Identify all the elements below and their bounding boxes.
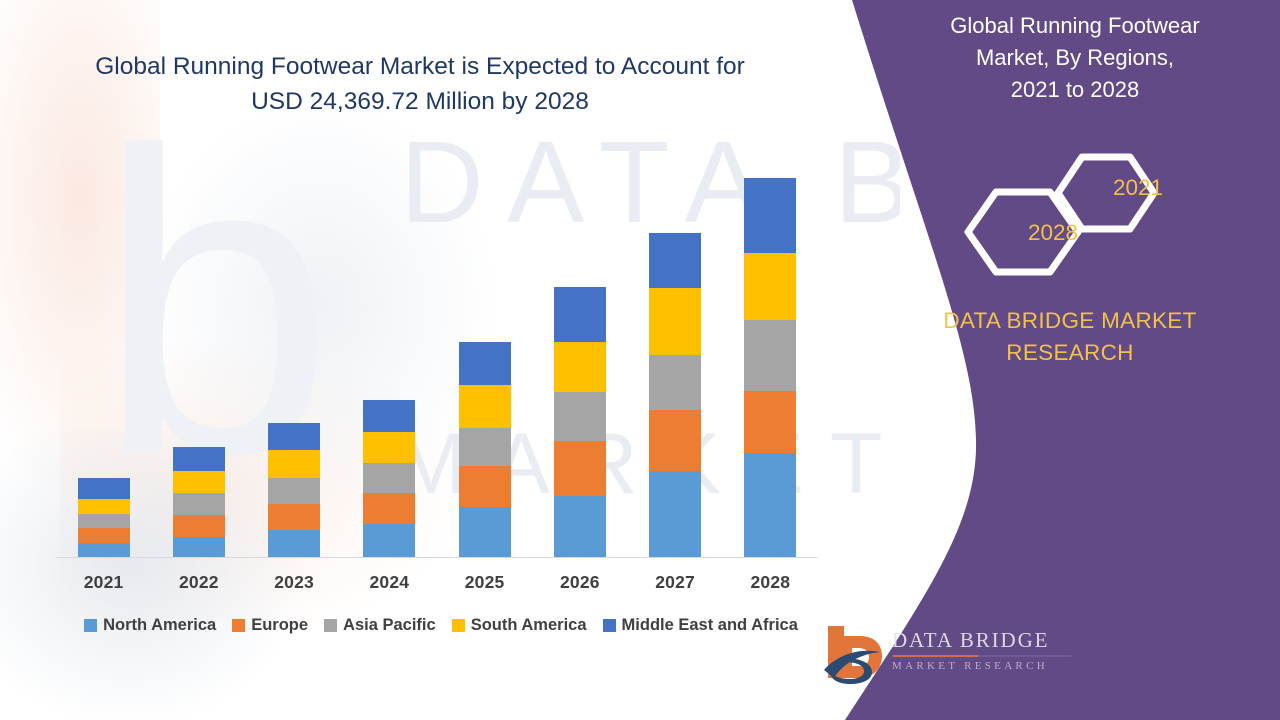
x-axis-label: 2025	[437, 572, 532, 593]
x-axis-label: 2022	[151, 572, 246, 593]
bar-segment[interactable]	[554, 392, 606, 441]
bar-segment[interactable]	[554, 441, 606, 496]
bar-segment[interactable]	[78, 528, 130, 543]
bar-segment[interactable]	[744, 391, 796, 453]
bar-segment[interactable]	[649, 355, 701, 411]
bar-segment[interactable]	[78, 478, 130, 499]
x-axis-label: 2023	[247, 572, 342, 593]
chart-title: Global Running Footwear Market is Expect…	[60, 50, 780, 120]
stacked-bar[interactable]	[78, 478, 130, 557]
company-logo: DATA BRIDGE MARKET RESEARCH	[820, 620, 1090, 705]
bar-segment[interactable]	[78, 499, 130, 514]
right-info-panel: Global Running Footwear Market, By Regio…	[810, 0, 1280, 720]
bar-slot	[532, 150, 627, 557]
bar-segment[interactable]	[363, 493, 415, 525]
legend-label: North America	[103, 616, 216, 635]
bar-segment[interactable]	[744, 320, 796, 391]
bar-segment[interactable]	[173, 493, 225, 515]
bar-slot	[342, 150, 437, 557]
x-axis-label: 2026	[532, 572, 627, 593]
stacked-bar[interactable]	[744, 178, 796, 557]
legend-swatch	[232, 619, 245, 632]
bar-segment[interactable]	[459, 385, 511, 428]
bar-slot	[437, 150, 532, 557]
x-axis-label: 2021	[56, 572, 151, 593]
stacked-bar[interactable]	[459, 342, 511, 557]
bar-segment[interactable]	[459, 507, 511, 557]
logo-wordmark: DATA BRIDGE MARKET RESEARCH	[892, 628, 1071, 672]
logo-name-bottom: MARKET RESEARCH	[892, 660, 1071, 672]
bar-segment[interactable]	[173, 515, 225, 536]
panel-brand-name: DATA BRIDGE MARKET RESEARCH	[900, 305, 1240, 369]
bar-segment[interactable]	[363, 400, 415, 432]
bar-slot	[56, 150, 151, 557]
bar-segment[interactable]	[268, 423, 320, 450]
bar-segment[interactable]	[744, 253, 796, 320]
panel-brand-line-2: RESEARCH	[900, 337, 1240, 369]
legend-label: Europe	[251, 616, 308, 635]
stacked-bar[interactable]	[173, 447, 225, 557]
panel-title-line-1: Global Running Footwear	[890, 10, 1260, 42]
bar-segment[interactable]	[744, 453, 796, 557]
bar-segment[interactable]	[649, 233, 701, 288]
stacked-bar[interactable]	[649, 233, 701, 557]
chart-title-line-2: USD 24,369.72 Million by 2028	[60, 85, 780, 120]
x-axis-label: 2027	[628, 572, 723, 593]
legend-item[interactable]: Asia Pacific	[324, 616, 436, 635]
legend-label: Asia Pacific	[343, 616, 436, 635]
chart-plot-area	[56, 150, 818, 558]
legend-swatch	[452, 619, 465, 632]
legend-swatch	[603, 619, 616, 632]
bar-segment[interactable]	[173, 447, 225, 470]
legend-swatch	[84, 619, 97, 632]
bar-segment[interactable]	[363, 524, 415, 557]
logo-divider	[893, 655, 1071, 657]
bar-segment[interactable]	[459, 466, 511, 507]
bar-segment[interactable]	[649, 288, 701, 354]
bar-segment[interactable]	[173, 471, 225, 493]
legend-swatch	[324, 619, 337, 632]
x-axis-label: 2028	[723, 572, 818, 593]
panel-title: Global Running Footwear Market, By Regio…	[890, 10, 1260, 106]
legend-label: Middle East and Africa	[622, 616, 798, 635]
legend-item[interactable]: Middle East and Africa	[603, 616, 798, 635]
stacked-bar[interactable]	[363, 400, 415, 557]
data-bridge-logo-icon	[820, 620, 890, 688]
bar-segment[interactable]	[173, 537, 225, 557]
hexagon-end-year: 2028	[1028, 220, 1078, 246]
x-axis-label: 2024	[342, 572, 437, 593]
bar-slot	[247, 150, 342, 557]
x-axis-labels: 20212022202320242025202620272028	[56, 572, 818, 593]
bar-segment[interactable]	[363, 463, 415, 493]
panel-brand-line-1: DATA BRIDGE MARKET	[900, 305, 1240, 337]
bar-segment[interactable]	[78, 514, 130, 527]
bar-slot	[628, 150, 723, 557]
panel-title-line-2: Market, By Regions,	[890, 42, 1260, 74]
bar-group	[56, 150, 818, 557]
stacked-bar[interactable]	[554, 287, 606, 557]
bar-segment[interactable]	[649, 410, 701, 470]
bar-segment[interactable]	[363, 432, 415, 464]
panel-title-line-3: 2021 to 2028	[890, 74, 1260, 106]
chart-title-line-1: Global Running Footwear Market is Expect…	[60, 50, 780, 85]
bar-slot	[723, 150, 818, 557]
bar-segment[interactable]	[554, 287, 606, 342]
legend-item[interactable]: Europe	[232, 616, 308, 635]
x-axis-line	[56, 557, 818, 558]
year-range-hexagons: 2021 2028	[950, 145, 1190, 295]
bar-segment[interactable]	[459, 428, 511, 467]
legend-item[interactable]: North America	[84, 616, 216, 635]
bar-segment[interactable]	[78, 543, 130, 557]
bar-segment[interactable]	[268, 504, 320, 529]
bar-segment[interactable]	[649, 471, 701, 557]
bar-segment[interactable]	[459, 342, 511, 385]
logo-name-top: DATA BRIDGE	[892, 628, 1071, 653]
hexagon-start-year: 2021	[1113, 175, 1163, 201]
chart-legend: North AmericaEuropeAsia PacificSouth Ame…	[56, 616, 826, 635]
bar-segment[interactable]	[268, 530, 320, 557]
stacked-bar[interactable]	[268, 423, 320, 557]
bar-segment[interactable]	[744, 178, 796, 253]
legend-item[interactable]: South America	[452, 616, 587, 635]
bar-segment[interactable]	[554, 342, 606, 392]
bar-segment[interactable]	[554, 496, 606, 557]
bar-segment[interactable]	[268, 478, 320, 504]
bar-segment[interactable]	[268, 450, 320, 477]
legend-label: South America	[471, 616, 587, 635]
bar-slot	[151, 150, 246, 557]
